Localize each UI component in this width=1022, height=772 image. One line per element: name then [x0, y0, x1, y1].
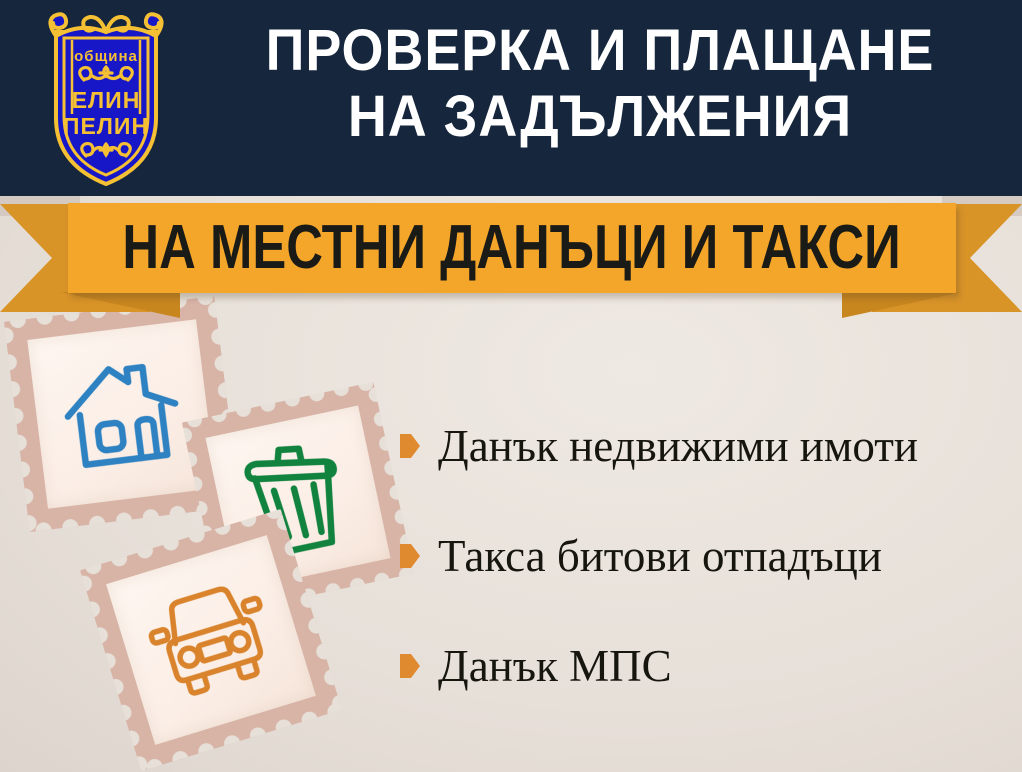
- page-title: ПРОВЕРКА И ПЛАЩАНЕ НА ЗАДЪЛЖЕНИЯ: [190, 18, 1010, 150]
- bullet-arrow-icon: [400, 654, 420, 678]
- ribbon-body: НА МЕСТНИ ДАНЪЦИ И ТАКСИ: [68, 203, 956, 293]
- house-icon: [56, 351, 189, 477]
- page-title-line-2: НА ЗАДЪЛЖЕНИЯ: [219, 84, 982, 150]
- page-title-line-1: ПРОВЕРКА И ПЛАЩАНЕ: [219, 18, 982, 84]
- list-item-label: Данък МПС: [438, 640, 672, 692]
- stamp-paper-property: [27, 319, 216, 508]
- svg-text:ЕЛИН: ЕЛИН: [72, 87, 141, 113]
- tax-types-list: Данък недвижими имоти Такса битови отпад…: [400, 420, 1020, 750]
- bullet-arrow-icon: [400, 544, 420, 568]
- list-item-label: Данък недвижими имоти: [438, 420, 918, 472]
- stamp-paper-vehicle: [106, 535, 316, 745]
- list-item[interactable]: Такса битови отпадъци: [400, 530, 1020, 582]
- ribbon-label: НА МЕСТНИ ДАНЪЦИ И ТАКСИ: [123, 217, 901, 279]
- car-front-icon: [135, 571, 286, 709]
- header-banner: община ЕЛИН ПЕЛИН: [0, 0, 1022, 196]
- svg-text:община: община: [74, 48, 138, 65]
- list-item[interactable]: Данък МПС: [400, 640, 1020, 692]
- list-item-label: Такса битови отпадъци: [438, 530, 882, 582]
- poster-canvas: община ЕЛИН ПЕЛИН: [0, 0, 1022, 772]
- subtitle-ribbon: НА МЕСТНИ ДАНЪЦИ И ТАКСИ: [0, 196, 1022, 316]
- bullet-arrow-icon: [400, 434, 420, 458]
- stamp-group: [0, 300, 420, 772]
- list-item[interactable]: Данък недвижими имоти: [400, 420, 1020, 472]
- municipality-crest: община ЕЛИН ПЕЛИН: [26, 6, 186, 190]
- crest-icon: община ЕЛИН ПЕЛИН: [26, 6, 186, 190]
- svg-text:ПЕЛИН: ПЕЛИН: [63, 113, 149, 139]
